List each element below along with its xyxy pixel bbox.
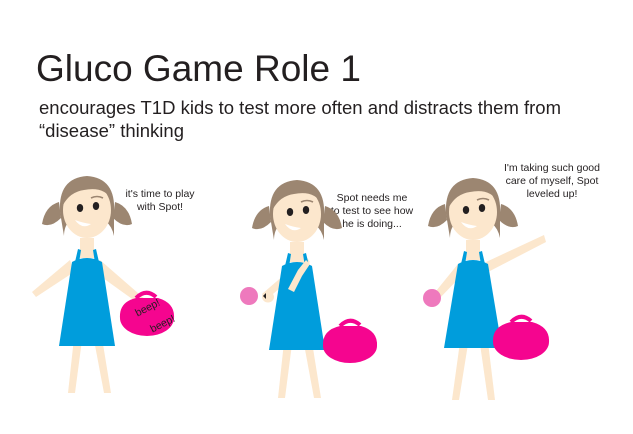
neck (466, 240, 480, 260)
pigtail-right (499, 204, 518, 227)
spot-handle (340, 321, 360, 326)
eye-left (287, 208, 293, 216)
pigtail-right (323, 206, 342, 229)
spot-top (493, 322, 549, 342)
eye-left (463, 206, 469, 214)
panel-1-illustration (18, 150, 218, 410)
right-leg (304, 342, 321, 398)
hand (262, 292, 274, 303)
panel-1: it's time to play with Spot! (18, 150, 218, 410)
pigtail-left (428, 204, 447, 227)
raised-arm (486, 235, 546, 272)
pigtail-right (113, 202, 132, 225)
eye-right (303, 206, 309, 214)
page-subtitle: encourages T1D kids to test more often a… (39, 96, 599, 142)
panel-2: Spot needs me to test to see how he is d… (222, 150, 422, 410)
left-leg (278, 342, 292, 398)
eye-right (93, 202, 99, 210)
neck (80, 238, 94, 258)
right-leg (94, 338, 111, 393)
blood-drop-dot (240, 287, 258, 305)
left-leg (68, 338, 82, 393)
neck (290, 242, 304, 262)
pigtail-left (252, 206, 271, 229)
panel-3-illustration (398, 150, 598, 410)
left-leg (452, 342, 468, 400)
eye-left (77, 204, 83, 212)
panel-3: I'm taking such good care of myself, Spo… (398, 150, 598, 410)
page-title: Gluco Game Role 1 (36, 48, 361, 90)
spot-top (323, 326, 377, 346)
blood-drop-dot (423, 289, 441, 307)
pigtail-left (42, 202, 61, 225)
right-leg (480, 342, 495, 400)
slide-canvas: Gluco Game Role 1 encourages T1D kids to… (0, 0, 633, 434)
spot-handle (511, 317, 531, 322)
panel-2-illustration (222, 150, 422, 410)
eye-right (479, 204, 485, 212)
